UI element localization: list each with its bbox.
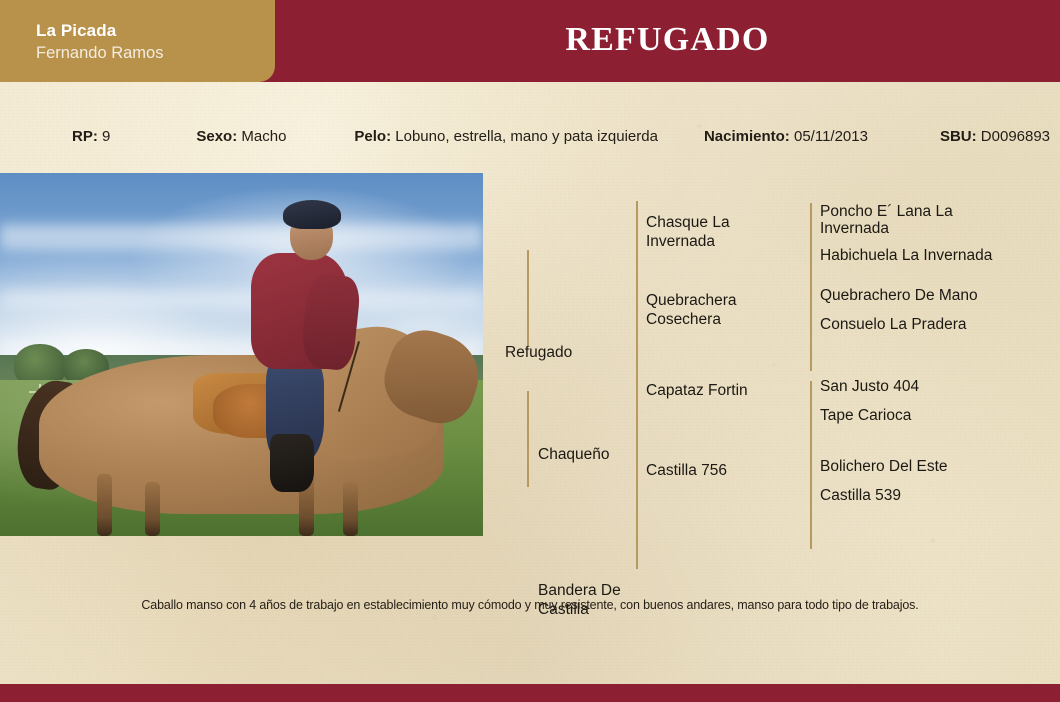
attribute-sbu: SBU: D0096893 [940,128,1050,145]
attribute-sexo-value: Macho [241,128,286,145]
pedigree-connector [527,250,529,346]
pedigree-connector [810,465,812,507]
pedigree-node-great-grandparent: Tape Carioca [820,406,911,425]
photo-cloud [0,289,483,309]
attribute-nacimiento-value: 05/11/2013 [794,128,868,145]
pedigree-connector [636,295,638,389]
farm-name: La Picada [36,20,275,41]
photo-rider-hat [283,200,341,229]
pedigree-node-great-grandparent: San Justo 404 [820,377,919,396]
pedigree-node-great-grandparent: Bolichero Del Este [820,457,948,476]
pedigree-connector [810,287,812,329]
attribute-rp-label: RP: [72,128,98,145]
attribute-nacimiento: Nacimiento: 05/11/2013 [704,128,868,145]
attribute-pelo: Pelo: Lobuno, estrella, mano y pata izqu… [354,128,658,145]
brand-panel: La Picada Fernando Ramos [0,0,275,82]
photo-cloud [0,224,483,250]
horse-catalog-page: La Picada Fernando Ramos REFUGADO RP: 9 … [0,0,1060,702]
pedigree-connector [810,247,812,289]
pedigree-node-grandparent: Quebrachera Cosechera [646,291,736,329]
pedigree-node-great-grandparent: Consuelo La Pradera [820,315,967,334]
pedigree-connector [810,381,812,423]
pedigree-tree: Refugado Chaqueño Bandera De Castilla Ch… [495,173,1060,536]
owner-name: Fernando Ramos [36,42,275,64]
footer-band [0,684,1060,702]
page-title: REFUGADO [275,0,1060,82]
pedigree-connector [636,201,638,295]
pedigree-connector [810,329,812,371]
attribute-rp-value: 9 [102,128,110,145]
photo-horse-leg [145,482,160,536]
pedigree-node-sire: Chaqueño [538,445,610,464]
photo-horse-leg [343,482,358,536]
horse-description: Caballo manso con 4 años de trabajo en e… [0,598,1060,612]
attribute-sexo: Sexo: Macho [196,128,286,145]
pedigree-node-root: Refugado [505,343,572,362]
attribute-sexo-label: Sexo: [196,128,237,145]
pedigree-connector [636,381,638,475]
attribute-sbu-label: SBU: [940,128,977,145]
pedigree-node-grandparent: Capataz Fortin [646,381,748,400]
attribute-nacimiento-label: Nacimiento: [704,128,790,145]
horse-attributes-row: RP: 9 Sexo: Macho Pelo: Lobuno, estrella… [0,124,1060,148]
pedigree-connector [527,391,529,487]
photo-rider-boot [270,434,313,492]
pedigree-node-great-grandparent: Castilla 539 [820,486,901,505]
pedigree-connector [810,423,812,465]
attribute-pelo-value: Lobuno, estrella, mano y pata izquierda [395,128,658,145]
pedigree-node-great-grandparent: Quebrachero De Mano [820,286,978,305]
pedigree-node-grandparent: Chasque La Invernada [646,213,730,251]
pedigree-node-great-grandparent: Poncho E´ Lana La Invernada [820,203,953,237]
pedigree-node-great-grandparent: Habichuela La Invernada [820,246,992,265]
pedigree-connector [810,507,812,549]
photo-horse-leg [97,474,112,536]
attribute-rp: RP: 9 [72,128,110,145]
attribute-sbu-value: D0096893 [981,128,1050,145]
attribute-pelo-label: Pelo: [354,128,391,145]
pedigree-connector [636,475,638,569]
pedigree-node-grandparent: Castilla 756 [646,461,727,480]
horse-photo [0,173,483,536]
pedigree-connector [810,203,812,247]
